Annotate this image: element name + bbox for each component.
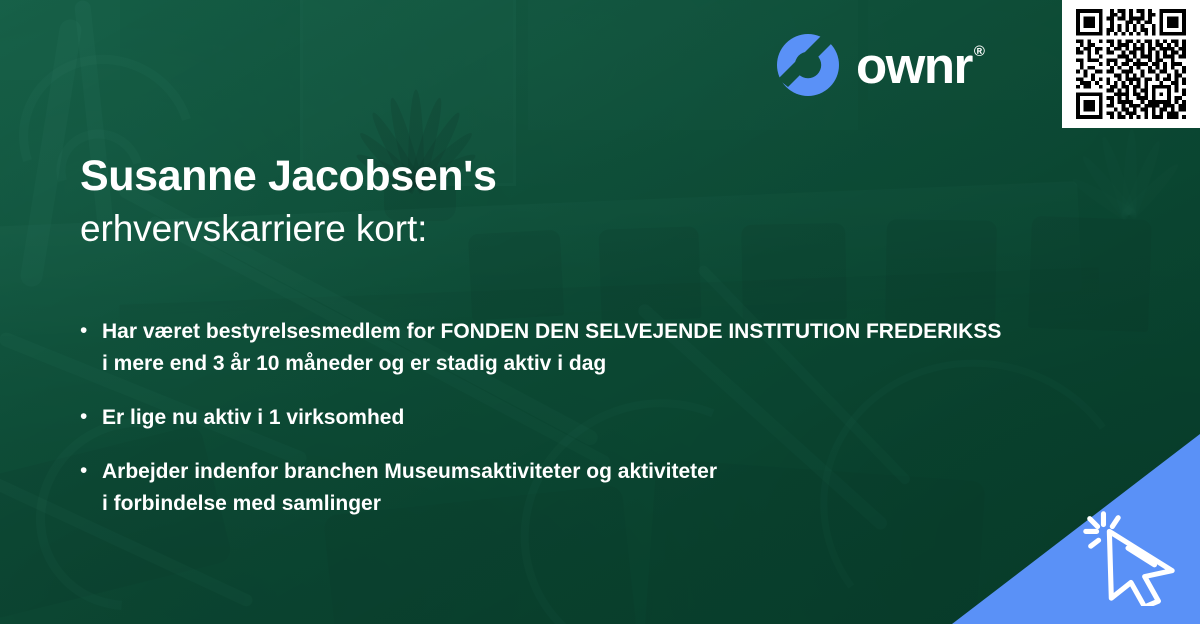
ownr-wordmark-text: ownr (856, 40, 972, 91)
career-card: ownr ® (0, 0, 1200, 624)
list-item-line-2: i forbindelse med samlinger (102, 492, 381, 515)
ownr-logo: ownr ® (776, 33, 983, 97)
list-item-text: Er lige nu aktiv i 1 virksomhed (102, 402, 404, 434)
headline-line-1: Susanne Jacobsen's (80, 152, 1140, 202)
qr-code[interactable] (1076, 9, 1186, 119)
list-item-text: Har været bestyrelsesmedlem for FONDEN D… (102, 316, 1001, 380)
bullet-marker-icon: • (80, 402, 102, 432)
bullet-marker-icon: • (80, 456, 102, 486)
list-item: • Er lige nu aktiv i 1 virksomhed (80, 402, 1200, 434)
list-item-line-2: i mere end 3 år 10 måneder og er stadig … (102, 352, 606, 375)
photo-green-tint-overlay (0, 0, 1200, 624)
ownr-circle-swoosh-icon (776, 33, 840, 97)
background-photo (0, 0, 1200, 624)
list-item: • Arbejder indenfor branchen Museumsakti… (80, 456, 1200, 520)
list-item-line-1: Er lige nu aktiv i 1 virksomhed (102, 406, 404, 429)
qr-code-container[interactable] (1062, 0, 1200, 128)
headline-line-2: erhvervskarriere kort: (80, 206, 1140, 252)
list-item: • Har været bestyrelsesmedlem for FONDEN… (80, 316, 1200, 380)
career-summary-list: • Har været bestyrelsesmedlem for FONDEN… (80, 316, 1200, 520)
list-item-line-1: Har været bestyrelsesmedlem for FONDEN D… (102, 320, 1001, 343)
registered-trademark-icon: ® (974, 44, 984, 59)
bullet-marker-icon: • (80, 316, 102, 346)
page-title: Susanne Jacobsen's erhvervskarriere kort… (80, 152, 1140, 252)
list-item-text: Arbejder indenfor branchen Museumsaktivi… (102, 456, 717, 520)
ownr-wordmark: ownr ® (856, 40, 983, 91)
list-item-line-1: Arbejder indenfor branchen Museumsaktivi… (102, 460, 717, 483)
